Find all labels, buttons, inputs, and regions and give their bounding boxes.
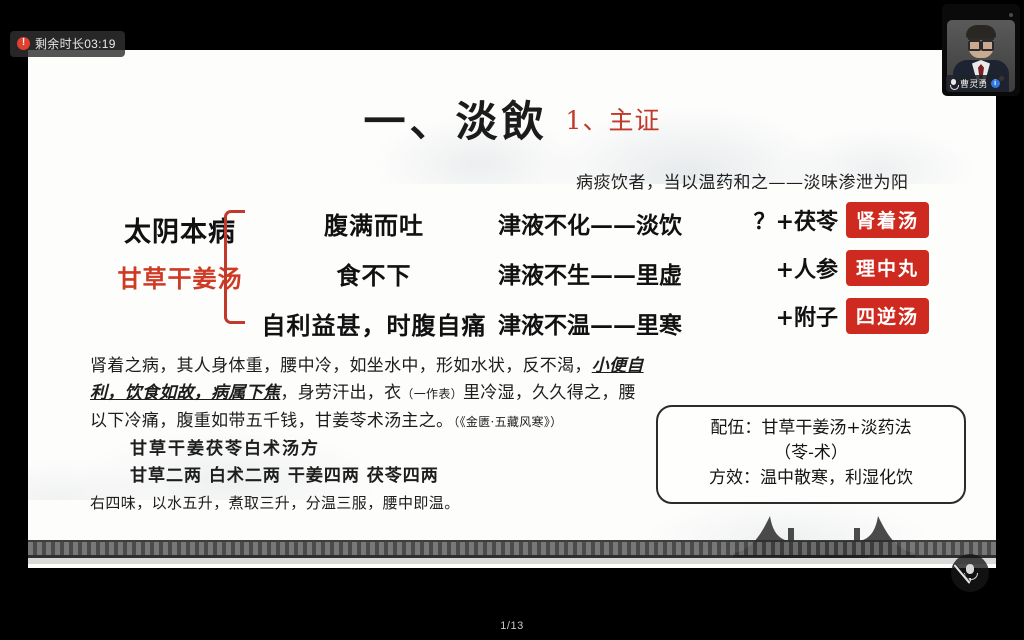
quote-part-a: 肾着之病，其人身体重，腰中冷，如坐水中，形如水状，反不渴，: [90, 356, 592, 376]
quote-part-b: ，身劳汗出，衣: [280, 383, 401, 403]
roof-base-strip: [28, 558, 996, 564]
symptom-item: 腹满而吐: [254, 206, 494, 241]
quote-paragraph: 肾着之病，其人身体重，腰中冷，如坐水中，形如水状，反不渴，小便自利，饮食如故，病…: [90, 353, 650, 436]
alert-circle-icon: [17, 37, 30, 50]
roof-tile-strip: [28, 540, 996, 558]
presenter-hair: [966, 25, 996, 38]
formula-badge: 理中丸: [846, 250, 929, 286]
formula-modifier: +人参: [734, 252, 846, 284]
presentation-slide: 一、淡飲1、主证 病痰饮者，当以温药和之——淡味渗泄为阳 太阴本病 甘草干姜汤 …: [28, 50, 996, 568]
status-dot-icon: [1009, 13, 1013, 17]
pagoda-roof-icon: [28, 508, 996, 568]
matrix-col-mechanism: 津液不化——淡饮 津液不生——里虚 津液不温——里寒: [498, 206, 738, 340]
presenter-name: 曹灵勇: [960, 77, 988, 90]
prescription-title: 甘草干姜茯苓白术汤方: [130, 436, 650, 463]
quote-variant-note: （一作表）: [401, 387, 463, 401]
symptom-item: 食不下: [254, 256, 494, 291]
quote-source: （《金匮·五藏风寒》）: [453, 415, 562, 429]
red-brace: [224, 210, 245, 324]
symptom-matrix: 太阴本病 甘草干姜汤 腹满而吐 食不下 自利益甚，时腹自痛 津液不化——淡饮 津…: [28, 200, 996, 330]
info-icon[interactable]: [991, 79, 1000, 88]
decorative-roof-graphic: [28, 508, 996, 568]
formula-badge: 肾着汤: [846, 202, 929, 238]
summary-composition-detail: （苓-术）: [666, 441, 956, 466]
microphone-muted-icon: [964, 564, 976, 582]
formula-row: +人参 理中丸: [734, 250, 974, 286]
glasses-icon: [968, 38, 994, 47]
screen-share-viewer: 一、淡飲1、主证 病痰饮者，当以温药和之——淡味渗泄为阳 太阴本病 甘草干姜汤 …: [0, 0, 1024, 640]
mechanism-item: 津液不温——里寒: [498, 306, 738, 340]
summary-box: 配伍：甘草干姜汤+淡药法 （苓-术） 方效：温中散寒，利湿化饮: [656, 405, 966, 504]
presenter-video-tile[interactable]: 曹灵勇: [942, 4, 1020, 96]
formula-badge: 四逆汤: [846, 298, 929, 334]
prescription-ingredients: 甘草二两 白术二两 干姜四两 茯苓四两: [130, 463, 650, 490]
matrix-col-symptoms: 腹满而吐 食不下 自利益甚，时腹自痛: [254, 206, 494, 341]
symptom-item: 自利益甚，时腹自痛: [254, 306, 494, 341]
presenter-name-chip: 曹灵勇: [946, 75, 1004, 92]
remaining-time-label: 剩余时长03:19: [35, 35, 116, 52]
prescription-preparation: 右四味，以水五升，煮取三升，分温三服，腰中即温。: [90, 490, 650, 517]
slide-title-sub: 1、主证: [566, 106, 661, 135]
mechanism-item: 津液不生——里虚: [498, 256, 738, 290]
slide-title: 一、淡飲1、主证: [28, 88, 996, 149]
classic-quote-block: 肾着之病，其人身体重，腰中冷，如坐水中，形如水状，反不渴，小便自利，饮食如故，病…: [90, 353, 650, 517]
summary-effect: 方效：温中散寒，利湿化饮: [666, 466, 956, 491]
formula-row: +附子 四逆汤: [734, 298, 974, 334]
microphone-icon: [950, 79, 957, 89]
slide-title-main: 一、淡飲: [364, 97, 548, 146]
matrix-col-formulas: ？+茯苓 肾着汤 +人参 理中丸 +附子 四逆汤: [734, 202, 974, 334]
page-indicator: 1/13: [0, 620, 1024, 632]
formula-modifier: ？+茯苓: [734, 204, 846, 236]
remaining-time-badge: 剩余时长03:19: [10, 31, 125, 57]
formula-modifier: +附子: [734, 300, 846, 332]
mechanism-item: 津液不化——淡饮: [498, 206, 738, 240]
mute-toggle-button[interactable]: [951, 554, 989, 592]
slide-annotation: 病痰饮者，当以温药和之——淡味渗泄为阳: [576, 168, 909, 193]
formula-row: ？+茯苓 肾着汤: [734, 202, 974, 238]
summary-composition: 配伍：甘草干姜汤+淡药法: [666, 416, 956, 441]
